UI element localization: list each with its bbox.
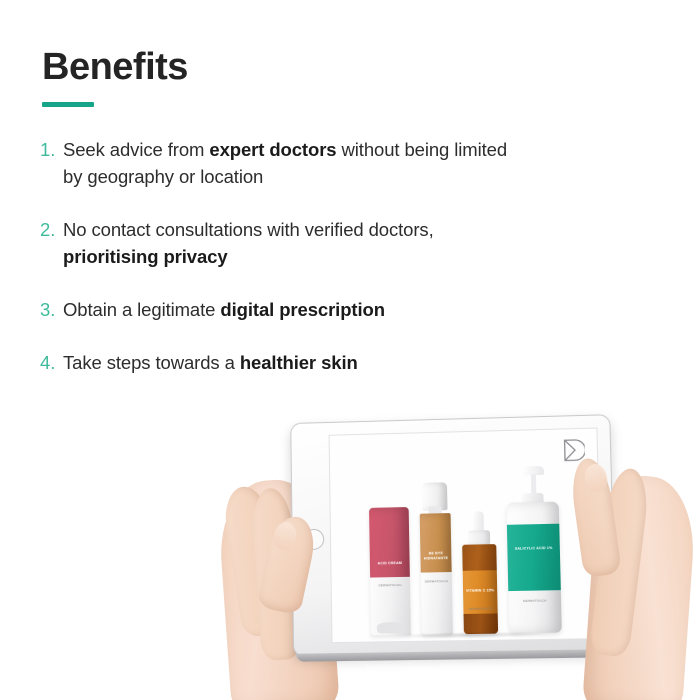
list-item-text: No contact consultations with verified d… <box>63 216 510 270</box>
list-item: 3. Obtain a legitimate digital prescript… <box>40 296 510 323</box>
tube-cap <box>377 622 405 633</box>
list-item-text-emphasis: digital prescription <box>220 299 385 320</box>
bottle-body: VITAMIN C 15% DERMATOUCH <box>462 544 498 634</box>
product-vitamin-c-serum: VITAMIN C 15% DERMATOUCH <box>462 511 499 634</box>
product-lineup: ACID CREAM DERMATOUCH BE BYE HIDR <box>330 463 601 637</box>
bottle-label-wrap <box>507 524 561 591</box>
dropper-bottle-container: VITAMIN C 15% DERMATOUCH <box>462 511 499 634</box>
bottle-body: SALICYLIC ACID 1% DERMATOUCH <box>506 502 561 634</box>
title-underline-rule <box>42 102 94 107</box>
list-item-text: Seek advice from expert doctors without … <box>63 136 510 190</box>
list-item-text-part: Obtain a legitimate <box>63 299 220 320</box>
list-item-text-emphasis: expert doctors <box>209 139 336 160</box>
bottle-body: BE BYE HIDRATANTE DERMATOUCH <box>420 513 453 635</box>
pump-bottle-container: SALICYLIC ACID 1% DERMATOUCH <box>506 466 562 634</box>
product-brand: DERMATOUCH <box>463 606 497 611</box>
tablet-device: ACID CREAM DERMATOUCH BE BYE HIDR <box>290 414 616 657</box>
list-item-text-emphasis: prioritising privacy <box>63 246 228 267</box>
list-item-text-part: No contact consultations with verified d… <box>63 219 434 240</box>
list-item-number: 4. <box>40 349 63 376</box>
product-name: BE BYE HIDRATANTE <box>420 551 451 561</box>
list-item-text: Take steps towards a healthier skin <box>63 349 510 376</box>
tablet-bottom-edge <box>296 649 613 662</box>
product-salicylic-acid: SALICYLIC ACID 1% DERMATOUCH <box>506 466 562 634</box>
product-brand: DERMATOUCH <box>508 598 561 603</box>
benefits-slide: Benefits 1. Seek advice from expert doct… <box>0 0 698 700</box>
product-name: ACID CREAM <box>370 561 410 566</box>
product-shadow <box>392 631 551 639</box>
list-item-text-emphasis: healthier skin <box>240 352 358 373</box>
product-brand: DERMATOUCH <box>421 579 452 584</box>
list-item-text-part: Take steps towards a <box>63 352 240 373</box>
list-item-number: 2. <box>40 216 63 243</box>
heading-block: Benefits <box>42 44 642 107</box>
list-item: 1. Seek advice from expert doctors witho… <box>40 136 510 190</box>
list-item-text-part: Seek advice from <box>63 139 209 160</box>
bottle-glass-top <box>462 544 497 571</box>
tube-container: ACID CREAM DERMATOUCH <box>369 507 411 636</box>
page-title: Benefits <box>42 44 642 90</box>
airless-pump-container: BE BYE HIDRATANTE DERMATOUCH <box>419 482 453 635</box>
benefits-list: 1. Seek advice from expert doctors witho… <box>40 136 510 376</box>
product-be-bye-hidratante: BE BYE HIDRATANTE DERMATOUCH <box>419 482 453 635</box>
list-item: 4. Take steps towards a healthier skin <box>40 349 510 376</box>
tablet-screen: ACID CREAM DERMATOUCH BE BYE HIDR <box>329 428 603 644</box>
list-item-text: Obtain a legitimate digital prescription <box>63 296 510 323</box>
list-item-number: 1. <box>40 136 63 163</box>
list-item: 2. No contact consultations with verifie… <box>40 216 510 270</box>
tablet-photo: ACID CREAM DERMATOUCH BE BYE HIDR <box>0 400 698 700</box>
product-acid-cream: ACID CREAM DERMATOUCH <box>369 507 411 636</box>
product-name: VITAMIN C 15% <box>463 588 497 593</box>
dermatouch-logo-icon <box>561 438 585 463</box>
list-item-number: 3. <box>40 296 63 323</box>
product-brand: DERMATOUCH <box>370 583 410 588</box>
